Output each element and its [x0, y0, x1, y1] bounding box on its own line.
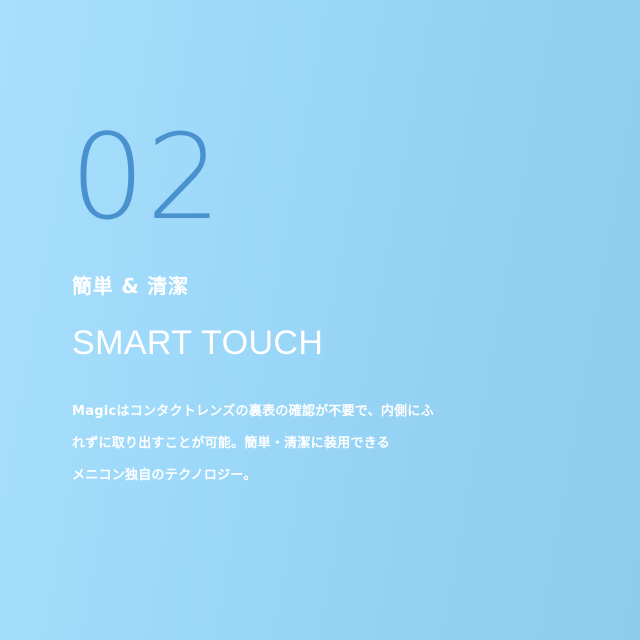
description-line: れずに取り出すことが可能。簡単・清潔に装用できる	[72, 428, 572, 460]
description-line: メニコン独自のテクノロジー。	[72, 460, 572, 492]
description-line: Magicはコンタクトレンズの裏表の確認が不要で、内側にふ	[72, 396, 572, 428]
subtitle-japanese: 簡単 & 清潔	[72, 274, 572, 298]
description-paragraph: Magicはコンタクトレンズの裏表の確認が不要で、内側にふ れずに取り出すことが…	[72, 396, 572, 492]
step-number: 02	[70, 118, 223, 236]
text-block: 簡単 & 清潔 SMART TOUCH Magicはコンタクトレンズの裏表の確認…	[72, 274, 572, 492]
promo-slide: 02 簡単 & 清潔 SMART TOUCH Magicはコンタクトレンズの裏表…	[0, 0, 640, 640]
title-english: SMART TOUCH	[72, 326, 572, 362]
